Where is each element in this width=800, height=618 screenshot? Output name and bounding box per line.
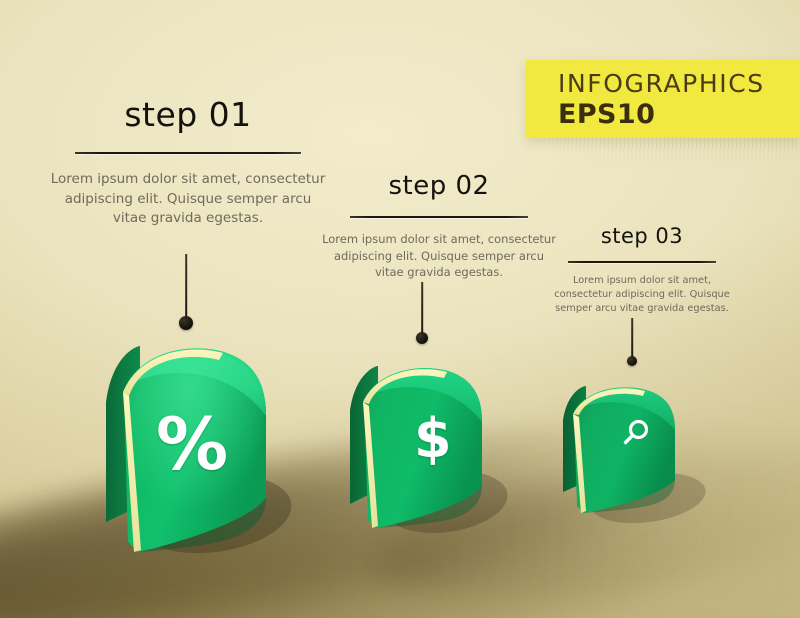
banner-title-line2: EPS10: [558, 99, 800, 131]
connector-dot-01: [179, 316, 193, 330]
ribbon-card-03[interactable]: [556, 386, 716, 536]
connector-dot-03: [627, 356, 637, 366]
step-block-03: step 03 Lorem ipsum dolor sit amet, cons…: [544, 226, 740, 317]
ribbon-card-02[interactable]: $: [342, 366, 522, 546]
step-body-02: Lorem ipsum dolor sit amet, consectetur …: [322, 231, 556, 281]
magnifier-icon-wrap: [618, 416, 652, 450]
magnifier-icon: [618, 416, 652, 450]
connector-dot-02: [416, 332, 428, 344]
step-divider-03: [568, 261, 716, 263]
dollar-icon: $: [414, 412, 452, 466]
connector-line-01: [185, 254, 187, 322]
step-body-01: Lorem ipsum dolor sit amet, consectetur …: [48, 170, 328, 229]
banner-title-line1: INFOGRAPHICS: [558, 71, 800, 96]
ribbon-card-01[interactable]: %: [96, 346, 306, 571]
step-block-02: step 02 Lorem ipsum dolor sit amet, cons…: [322, 173, 556, 281]
banner-wave-pattern: [528, 138, 800, 174]
step-block-01: step 01 Lorem ipsum dolor sit amet, cons…: [48, 98, 328, 229]
percent-icon: %: [156, 408, 228, 480]
step-body-03: Lorem ipsum dolor sit amet, consectetur …: [544, 274, 740, 317]
infographic-canvas: INFOGRAPHICS EPS10 step 01 Lorem ipsum d…: [0, 0, 800, 618]
step-divider-02: [350, 216, 528, 218]
step-title-01: step 01: [48, 98, 328, 131]
step-divider-01: [75, 152, 301, 154]
step-title-02: step 02: [322, 173, 556, 199]
connector-line-02: [421, 282, 423, 338]
infographics-banner: INFOGRAPHICS EPS10: [526, 60, 800, 138]
step-title-03: step 03: [544, 226, 740, 247]
